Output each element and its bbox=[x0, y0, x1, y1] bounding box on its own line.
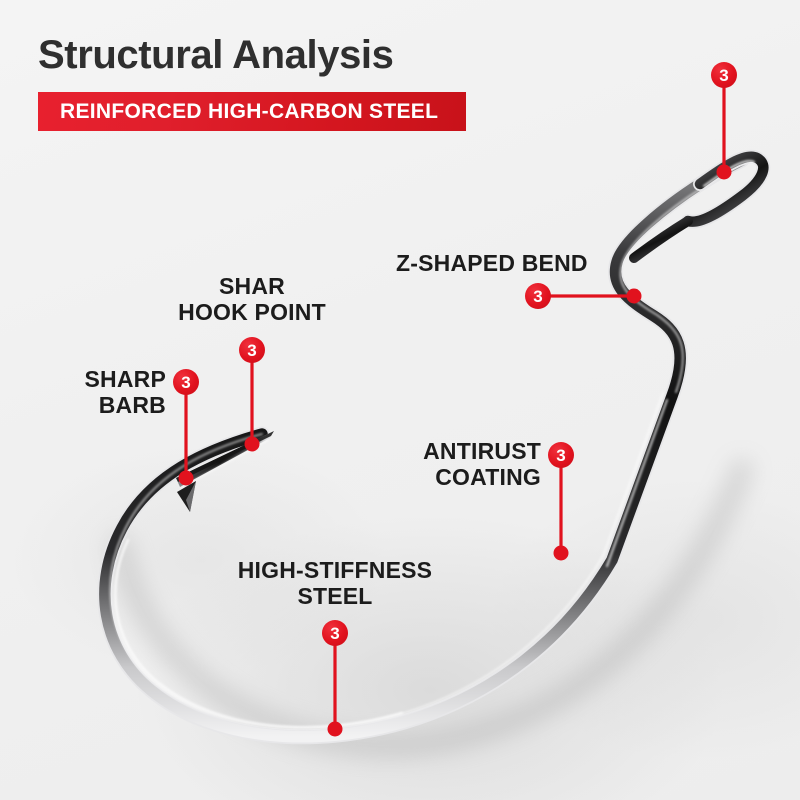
callout-label-sharp-hook-point: SHAR HOOK POINT bbox=[102, 273, 402, 325]
callout-badge-high-stiffness-steel[interactable]: 3 bbox=[322, 620, 348, 646]
callout-label-high-stiffness-steel: HIGH-STIFFNESS STEEL bbox=[185, 557, 485, 609]
callout-label-antirust-coating: ANTIRUST COATING bbox=[281, 438, 541, 490]
callout-badge-hook-eye[interactable]: 3 bbox=[711, 62, 737, 88]
page-title: Structural Analysis bbox=[38, 33, 394, 78]
callout-label-z-shaped-bend: Z-SHAPED BEND bbox=[396, 250, 588, 276]
callout-label-sharp-barb: SHARP BARB bbox=[0, 366, 166, 418]
callout-badge-z-shaped-bend[interactable]: 3 bbox=[525, 283, 551, 309]
subtitle-text: REINFORCED HIGH-CARBON STEEL bbox=[38, 100, 438, 124]
callout-badge-sharp-hook-point[interactable]: 3 bbox=[239, 337, 265, 363]
anchor-dot-z-shaped-bend bbox=[627, 289, 642, 304]
anchor-dot-high-stiffness-steel bbox=[328, 722, 343, 737]
anchor-dot-sharp-barb bbox=[179, 471, 194, 486]
anchor-dot-hook-eye bbox=[717, 165, 732, 180]
anchor-dot-antirust-coating bbox=[554, 546, 569, 561]
callout-badge-sharp-barb[interactable]: 3 bbox=[173, 369, 199, 395]
callout-badge-antirust-coating[interactable]: 3 bbox=[548, 442, 574, 468]
anchor-dot-sharp-hook-point bbox=[245, 437, 260, 452]
subtitle-banner: REINFORCED HIGH-CARBON STEEL bbox=[38, 92, 466, 131]
infographic-page: Z-SHAPED BEND SHAR HOOK POINT SHARP BARB… bbox=[0, 0, 800, 800]
